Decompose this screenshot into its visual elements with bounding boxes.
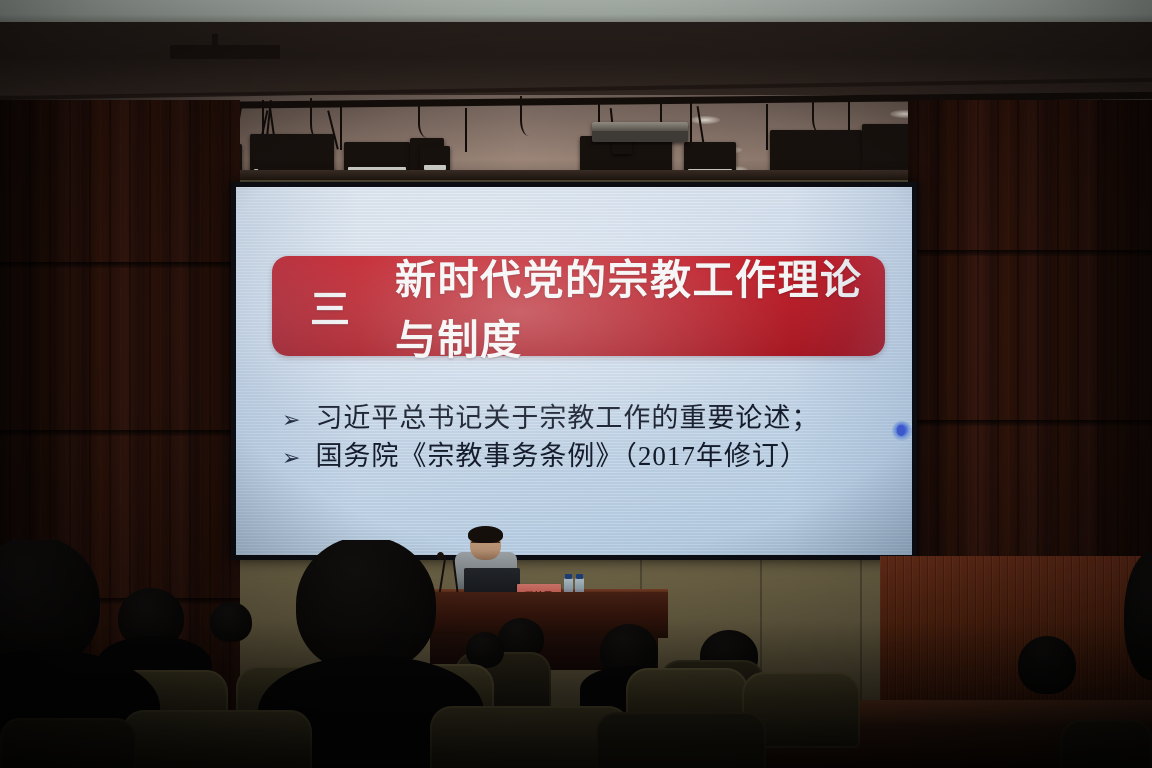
stage-light-fixture xyxy=(592,122,688,142)
fixture-power-cable xyxy=(812,96,834,134)
laser-pointer-core xyxy=(897,425,905,436)
fixture-yoke xyxy=(465,108,467,152)
fixture-power-cable xyxy=(520,96,542,136)
fixture-housing-top xyxy=(592,122,688,131)
projection-screen: 三 新时代党的宗教工作理论与制度 ➢ 习近平总书记关于宗教工作的重要论述； ➢ … xyxy=(236,187,912,555)
fixture-power-cable xyxy=(418,102,442,138)
audience-member xyxy=(210,602,252,642)
screen-glare xyxy=(236,187,912,555)
fixture-yoke xyxy=(340,102,342,150)
audience-member xyxy=(466,632,504,668)
slide-title-text: 新时代党的宗教工作理论与制度 xyxy=(395,246,885,366)
audience-member xyxy=(0,540,100,668)
audience-chair xyxy=(0,718,136,768)
audience-chair xyxy=(596,712,766,768)
audience-member xyxy=(1018,636,1076,694)
bullet-text: 习近平总书记关于宗教工作的重要论述； xyxy=(315,399,819,437)
audience-member xyxy=(296,540,436,672)
audience-chair xyxy=(122,710,312,768)
slide-section-number: 三 xyxy=(310,277,351,335)
auditorium-scene: 三 新时代党的宗教工作理论与制度 ➢ 习近平总书记关于宗教工作的重要论述； ➢ … xyxy=(0,0,1152,768)
bullet-arrow-icon: ➢ xyxy=(282,404,301,435)
bullet-text: 国务院《宗教事务条例》（2017年修订） xyxy=(315,437,808,475)
list-item: ➢ 国务院《宗教事务条例》（2017年修订） xyxy=(282,437,882,475)
fixture-yoke xyxy=(690,100,692,148)
bullet-arrow-icon: ➢ xyxy=(282,442,301,473)
stage-light-fixture xyxy=(420,146,450,172)
fixture-yoke xyxy=(766,104,768,150)
ceiling-vent xyxy=(170,45,280,59)
slide-title-banner: 三 新时代党的宗教工作理论与制度 xyxy=(272,256,885,356)
recessed-ceiling-light xyxy=(690,116,720,124)
audience-chair xyxy=(1060,720,1152,768)
audience-member xyxy=(1124,550,1152,680)
list-item: ➢ 习近平总书记关于宗教工作的重要论述； xyxy=(282,399,882,437)
slide-bullet-list: ➢ 习近平总书记关于宗教工作的重要论述； ➢ 国务院《宗教事务条例》（2017年… xyxy=(282,399,882,476)
audience-seating xyxy=(0,540,1152,768)
